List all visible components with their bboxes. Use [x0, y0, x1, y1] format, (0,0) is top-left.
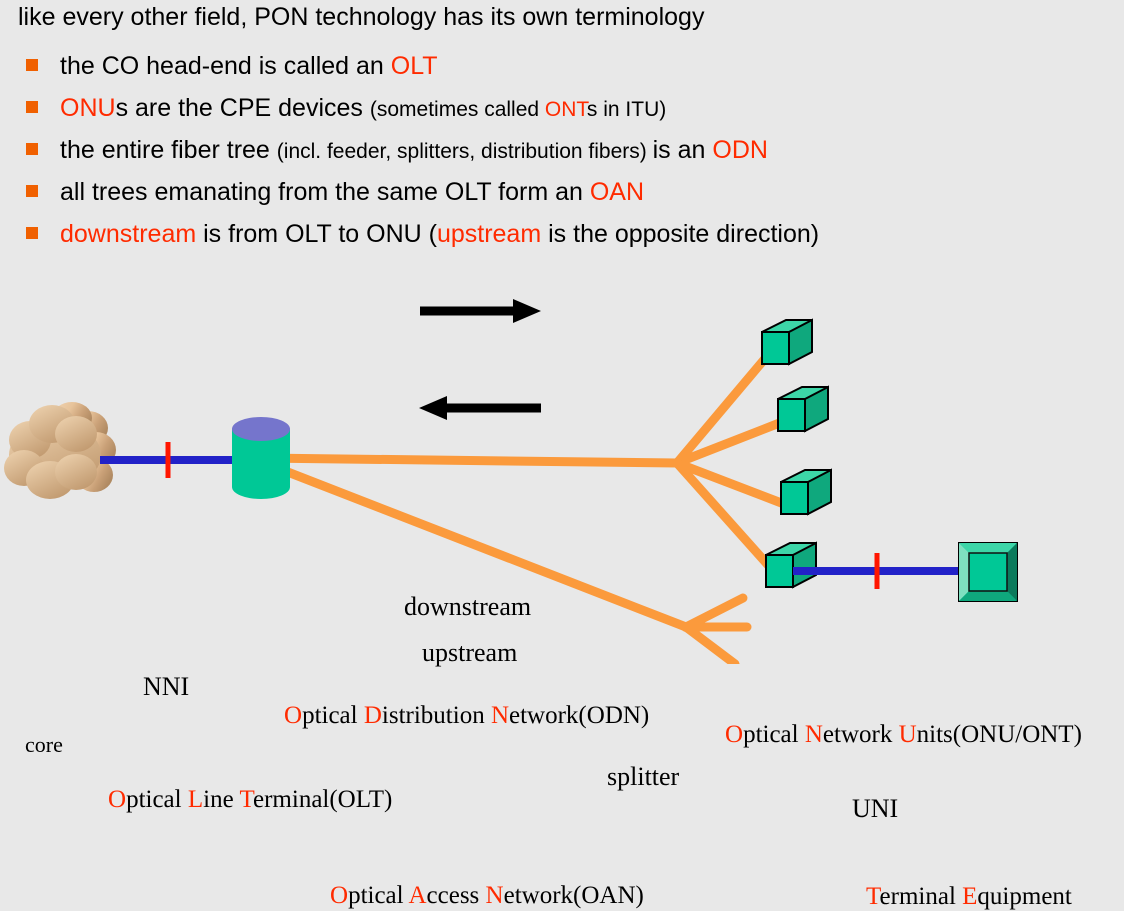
olt-label: Optical Line Terminal(OLT) [108, 786, 392, 814]
onu-cube-icon [762, 320, 812, 364]
slide-text-block: like every other field, PON technology h… [0, 0, 1124, 270]
list-item: the entire fiber tree (incl. feeder, spl… [26, 136, 768, 165]
splitter-node-icon [681, 622, 691, 632]
bullet-marker-icon [26, 59, 38, 71]
bullet-marker-icon [26, 101, 38, 113]
downstream-arrow-icon [420, 299, 541, 323]
list-item-text: all trees emanating from the same OLT fo… [60, 178, 644, 206]
onu-cube-icon [781, 470, 831, 514]
bullet-marker-icon [26, 143, 38, 155]
downstream-label: downstream [404, 592, 531, 622]
splitter-node-icon [672, 458, 682, 468]
list-item-text: the CO head-end is called an OLT [60, 52, 438, 80]
fiber-odn-links [262, 355, 784, 565]
list-item-text: downstream is from OLT to ONU (upstream … [60, 220, 819, 248]
oan-label: Optical Access Network(OAN) [330, 882, 644, 910]
fiber-oan-links [262, 462, 747, 664]
uni-label: UNI [852, 794, 898, 824]
core-label: core [25, 732, 63, 758]
cloud-core-icon [4, 402, 116, 499]
onu-cube-icon [766, 543, 816, 587]
onu-label: Optical Network Units(ONU/ONT) [725, 721, 1082, 749]
list-item: the CO head-end is called an OLT [26, 52, 438, 81]
odn-label: Optical Distribution Network(ODN) [284, 702, 649, 730]
list-item: downstream is from OLT to ONU (upstream … [26, 220, 819, 249]
list-item: all trees emanating from the same OLT fo… [26, 178, 644, 207]
terminal-equipment-icon [959, 543, 1017, 601]
page-title: like every other field, PON technology h… [18, 3, 704, 32]
list-item-text: ONUs are the CPE devices (sometimes call… [60, 94, 666, 122]
list-item: ONUs are the CPE devices (sometimes call… [26, 94, 666, 123]
onu-cube-icon [778, 387, 828, 431]
list-item-text: the entire fiber tree (incl. feeder, spl… [60, 136, 768, 164]
bullet-marker-icon [26, 185, 38, 197]
terminal-equipment-label: Terminal Equipment [866, 883, 1072, 911]
pon-network-diagram: downstream upstream NNI core splitter UN… [0, 272, 1124, 664]
upstream-arrow-icon [419, 396, 541, 420]
bullet-marker-icon [26, 227, 38, 239]
nni-label: NNI [143, 672, 189, 702]
splitter-label: splitter [607, 762, 679, 792]
olt-cylinder-icon [232, 417, 290, 499]
